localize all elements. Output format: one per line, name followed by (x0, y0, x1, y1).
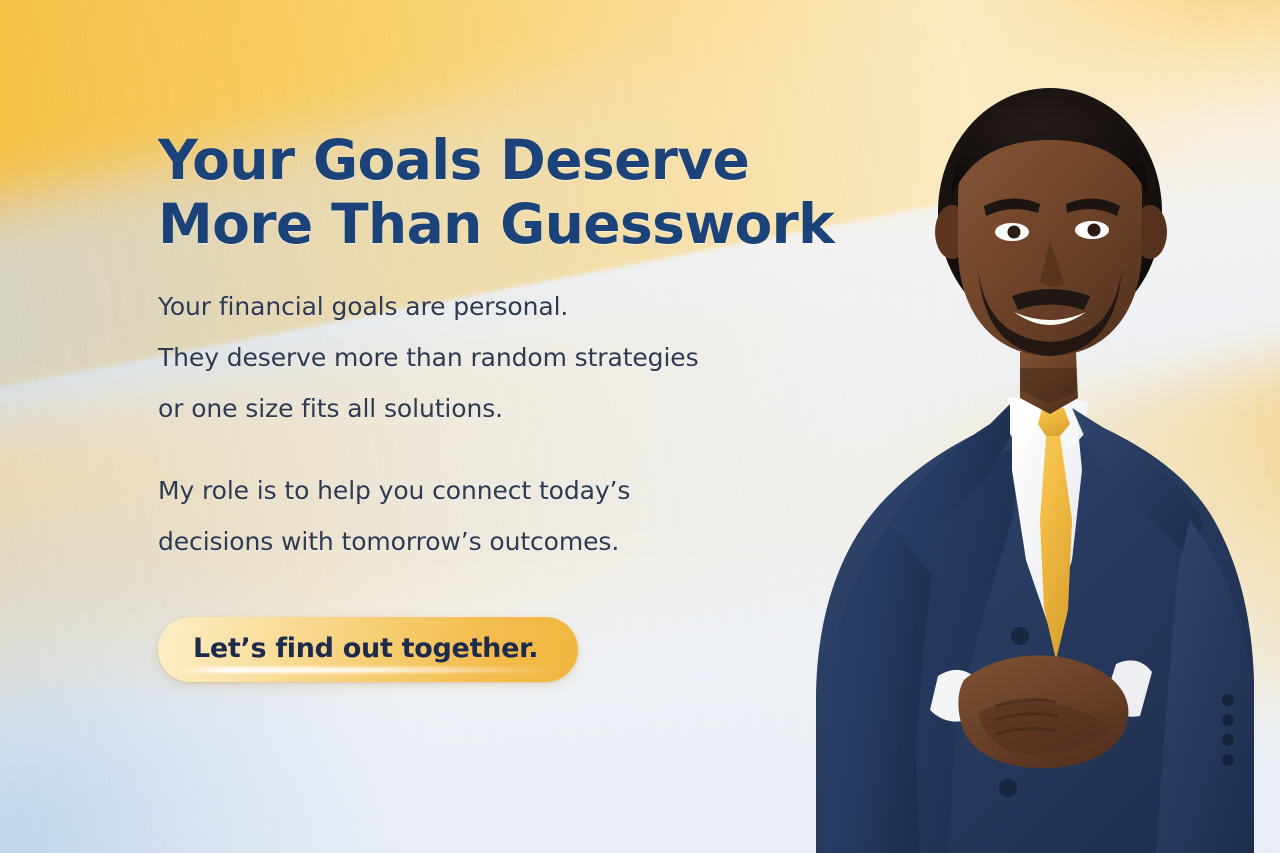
hero-content: Your Goals Deserve More Than Guesswork Y… (158, 128, 758, 682)
headline-line-2: More Than Guesswork (158, 192, 758, 256)
headline-line-1: Your Goals Deserve (158, 128, 758, 192)
intro-paragraph-1: Your financial goals are personal. They … (158, 281, 758, 434)
hero-banner: Your Goals Deserve More Than Guesswork Y… (0, 0, 1280, 853)
sleeve-button-4 (1222, 754, 1234, 766)
pupil-left (1008, 226, 1021, 239)
paragraph-1-line-3: or one size fits all solutions. (158, 383, 758, 434)
cta-button-label: Let’s find out together. (193, 633, 538, 664)
pupil-right (1088, 224, 1101, 237)
jacket-button-top (1011, 627, 1029, 645)
paragraph-2-line-2: decisions with tomorrow’s outcomes. (158, 516, 758, 567)
jacket-button-bottom (999, 779, 1017, 797)
cta-container: Let’s find out together. (158, 617, 758, 682)
intro-paragraph-2: My role is to help you connect today’s d… (158, 465, 758, 567)
subject-photo (720, 0, 1280, 853)
page-title: Your Goals Deserve More Than Guesswork (158, 128, 758, 256)
paragraph-2-line-1: My role is to help you connect today’s (158, 465, 758, 516)
sleeve-button-2 (1222, 714, 1234, 726)
paragraph-1-line-2: They deserve more than random strategies (158, 332, 758, 383)
sleeve-button-3 (1222, 734, 1234, 746)
paragraph-1-line-1: Your financial goals are personal. (158, 281, 758, 332)
sleeve-button-1 (1222, 694, 1234, 706)
lets-find-out-together-button[interactable]: Let’s find out together. (158, 617, 578, 682)
